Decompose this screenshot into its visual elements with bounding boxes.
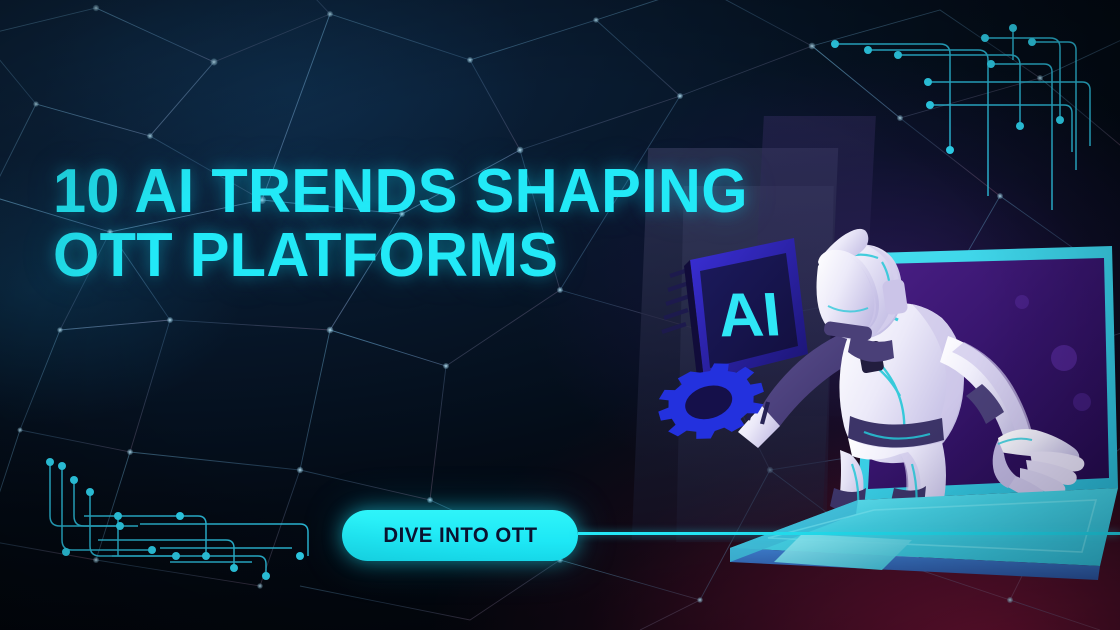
banner-canvas: AI 10 AI Trends Shaping OTT Platforms Di… [0, 0, 1120, 630]
vignette-overlay [0, 0, 1120, 630]
